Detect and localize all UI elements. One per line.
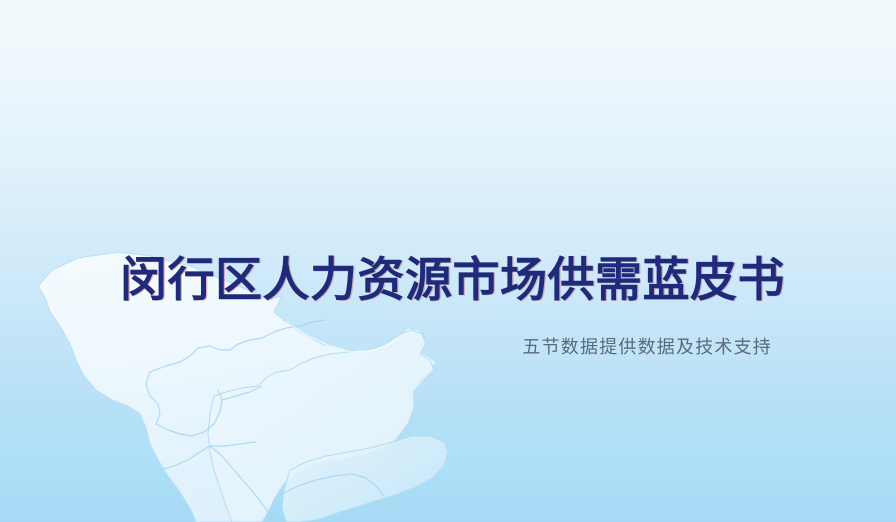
page-subtitle: 五节数据提供数据及技术支持 bbox=[372, 334, 772, 360]
report-cover-slide: 闵行区人力资源市场供需蓝皮书 五节数据提供数据及技术支持 bbox=[0, 0, 896, 522]
page-title: 闵行区人力资源市场供需蓝皮书 bbox=[120, 252, 780, 308]
title-block: 闵行区人力资源市场供需蓝皮书 五节数据提供数据及技术支持 bbox=[0, 0, 896, 522]
